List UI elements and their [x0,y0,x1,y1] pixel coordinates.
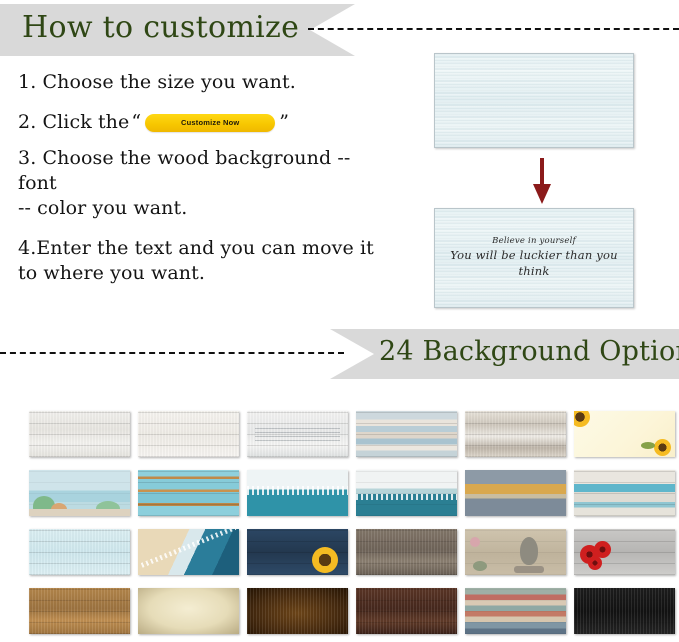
background-options-grid [29,411,675,634]
swatch-cream-sunflower-border[interactable] [574,411,675,457]
swatch-pale-blue-wood[interactable] [29,529,130,575]
swatch-teal-white-weathered-planks[interactable] [574,470,675,516]
swatch-teal-ocean-horizon[interactable] [356,470,457,516]
step-2-prefix: 2. Click the [18,110,129,135]
down-arrow-icon [533,158,551,204]
swatch-navy-wood-sunflower[interactable] [247,529,348,575]
swatch-dark-red-brown-planks[interactable] [356,588,457,634]
leaf-icon [641,442,655,449]
options-dashed-line [0,352,344,354]
sunflower-icon [574,411,590,427]
swatch-white-plank-wood[interactable] [138,411,239,457]
swatch-black-chalkboard-wood[interactable] [574,588,675,634]
customized-sign-preview: Believe in yourself You will be luckier … [434,208,634,308]
swatch-light-wood-with-script[interactable] [247,411,348,457]
customize-now-button[interactable]: Customize Now [145,114,275,132]
swatch-grey-brown-barnwood[interactable] [356,529,457,575]
quote-open: “ [131,110,141,135]
wood-texture [435,54,633,147]
step-1: 1. Choose the size you want. [18,70,388,95]
step-4-line-2: to where you want. [18,261,388,286]
step-4: 4.Enter the text and you can move it to … [18,236,388,286]
step-3-line-1: 3. Choose the wood background -- font [18,146,388,196]
step-4-line-1: 4.Enter the text and you can move it [18,236,388,261]
swatch-vintage-cream-parchment[interactable] [138,588,239,634]
swatch-white-washed-wood[interactable] [29,411,130,457]
page-title: How to customize [22,11,299,45]
steps-list: 1. Choose the size you want. 2. Click th… [18,70,388,301]
swatch-dark-brown-grain-wood[interactable] [247,588,348,634]
options-title: 24 Background Options [379,336,679,368]
swatch-teal-sea-foam-splash[interactable] [247,470,348,516]
step-3-line-2: -- color you want. [18,196,388,221]
header-dashed-line [308,28,679,30]
swatch-blue-grey-mixed-planks[interactable] [356,411,457,457]
swatch-multicolor-painted-stripes[interactable] [465,588,566,634]
customization-infographic: How to customize 1. Choose the size you … [0,0,679,642]
step-3: 3. Choose the wood background -- font --… [18,146,388,221]
step-2: 2. Click the “ Customize Now ” [18,110,388,135]
swatch-distressed-teal-orange[interactable] [138,470,239,516]
quote-close: ” [279,110,289,135]
swatch-beach-shoreline-aerial[interactable] [138,529,239,575]
blank-sign-preview [434,53,634,148]
swatch-light-brown-wood[interactable] [29,588,130,634]
swatch-grey-wood-red-poppies[interactable] [574,529,675,575]
wood-texture [435,209,633,307]
swatch-underwater-coral-reef[interactable] [29,470,130,516]
sunflower-icon [654,439,671,456]
script-overlay [255,427,340,441]
swatch-zen-buddha-stones[interactable] [465,529,566,575]
swatch-golden-sunset-lake[interactable] [465,470,566,516]
swatch-rustic-weathered-beige[interactable] [465,411,566,457]
